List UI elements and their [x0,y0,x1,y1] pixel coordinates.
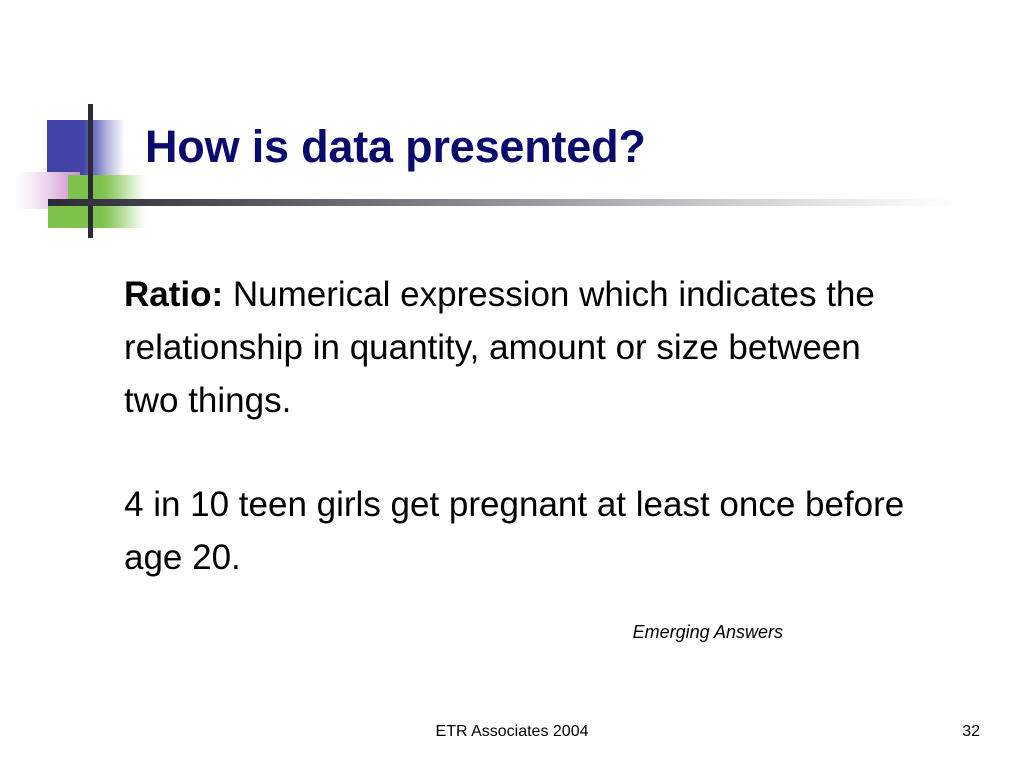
ornament-green-square-icon [68,175,146,228]
footer-credit: ETR Associates 2004 [0,723,1024,741]
ornament-horizontal-rule [48,199,960,206]
definition-paragraph: Ratio: Numerical expression which indica… [124,268,914,427]
footer-page-number: 32 [962,723,980,741]
slide-canvas: How is data presented? Ratio: Numerical … [0,0,1024,768]
ornament-pink-rectangle-icon [16,172,80,209]
slide-body: Ratio: Numerical expression which indica… [124,268,914,584]
paragraph-spacer [124,427,914,478]
slide-title: How is data presented? [145,121,646,173]
example-paragraph: 4 in 10 teen girls get pregnant at least… [124,478,914,584]
ornament-vertical-rule [88,104,93,238]
definition-body: Numerical expression which indicates the… [124,275,875,420]
source-attribution: Emerging Answers [0,622,783,643]
ornament-green-notch-icon [48,202,70,228]
definition-term: Ratio: [124,275,223,314]
ornament-blue-square-icon [47,120,125,176]
